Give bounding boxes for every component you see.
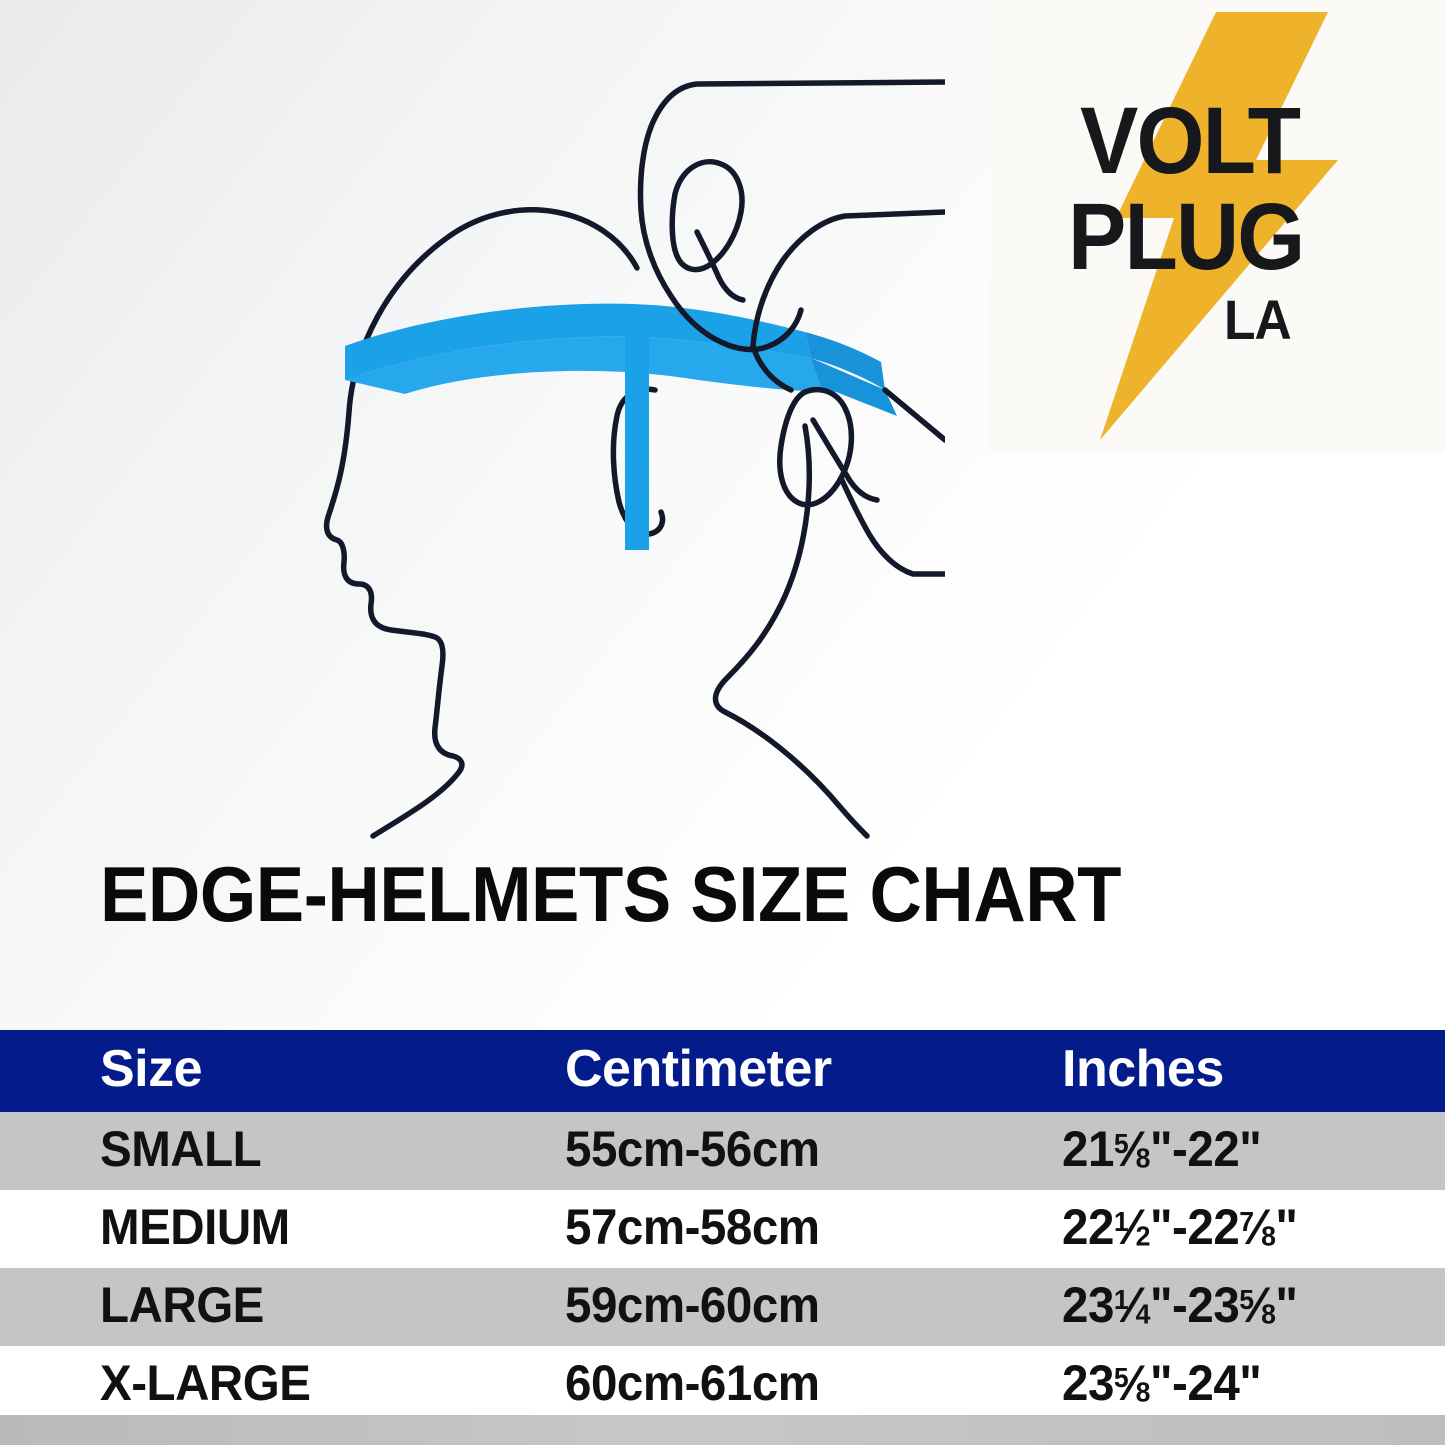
column-header-centimeter: Centimeter [565, 1043, 832, 1095]
cell-inches: 221⁄2"-227⁄8" [1062, 1202, 1297, 1252]
head-measuring-tape-diagram [245, 60, 945, 840]
cell-size: SMALL [100, 1124, 261, 1174]
page-title: EDGE-HELMETS SIZE CHART [100, 855, 1121, 933]
column-header-inches: Inches [1062, 1043, 1224, 1095]
table-row: MEDIUM 57cm-58cm 221⁄2"-227⁄8" [0, 1190, 1445, 1268]
cell-size: X-LARGE [100, 1358, 310, 1408]
cell-centimeter: 60cm-61cm [565, 1358, 820, 1408]
cell-centimeter: 59cm-60cm [565, 1280, 820, 1330]
logo-text-la: LA [1224, 292, 1291, 348]
cell-size: LARGE [100, 1280, 264, 1330]
cell-size: MEDIUM [100, 1202, 290, 1252]
table-row: SMALL 55cm-56cm 215⁄8"-22" [0, 1112, 1445, 1190]
cell-centimeter: 55cm-56cm [565, 1124, 820, 1174]
cell-inches: 215⁄8"-22" [1062, 1124, 1261, 1174]
table-row: X-LARGE 60cm-61cm 235⁄8"-24" [0, 1346, 1445, 1424]
logo-text-plug: PLUG [1068, 190, 1303, 285]
brand-logo-panel: VOLT PLUG LA [988, 0, 1445, 453]
size-chart-page: VOLT PLUG LA EDGE-HELMETS SIZE CHART Siz… [0, 0, 1445, 1445]
cell-inches: 231⁄4"-235⁄8" [1062, 1280, 1297, 1330]
table-row: LARGE 59cm-60cm 231⁄4"-235⁄8" [0, 1268, 1445, 1346]
size-chart-table: Size Centimeter Inches SMALL 55cm-56cm 2… [0, 1030, 1445, 1424]
column-header-size: Size [100, 1043, 202, 1095]
table-footer-strip [0, 1415, 1445, 1445]
table-header-row: Size Centimeter Inches [0, 1030, 1445, 1112]
brand-wordmark: VOLT PLUG LA [988, 0, 1445, 453]
cell-centimeter: 57cm-58cm [565, 1202, 820, 1252]
logo-text-volt: VOLT [1080, 94, 1299, 189]
cell-inches: 235⁄8"-24" [1062, 1358, 1261, 1408]
